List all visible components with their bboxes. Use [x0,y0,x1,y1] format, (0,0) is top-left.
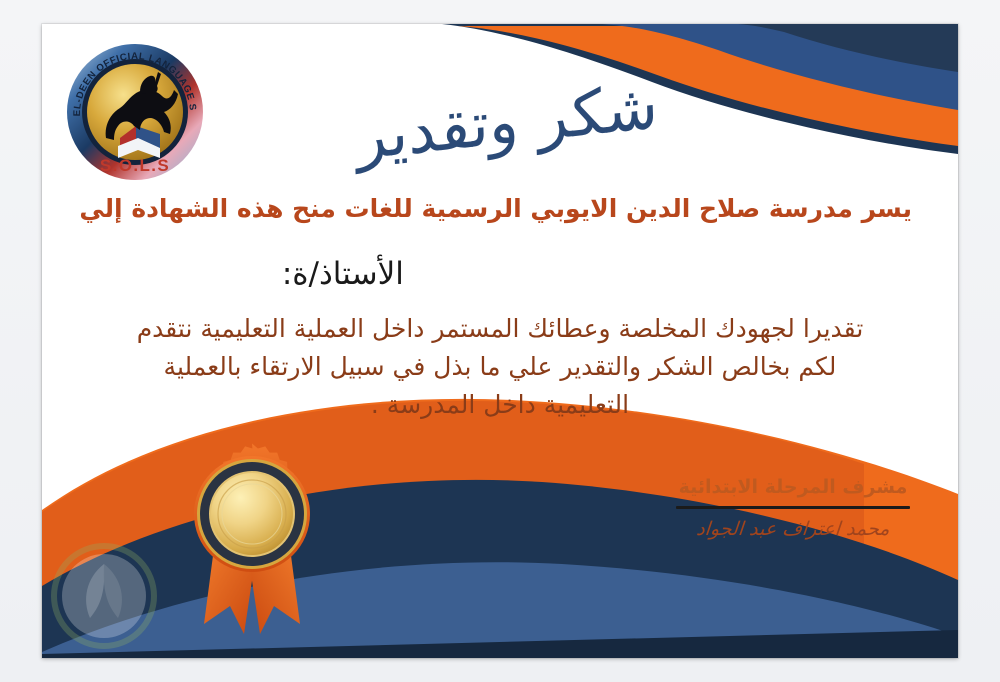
body-line-3: التعليمية داخل المدرسة . [105,386,895,424]
body-paragraph: تقديرا لجهودك المخلصة وعطائك المستمر داخ… [105,310,895,424]
signature-name: محمد اعتراف عبد الجواد [667,518,919,540]
headline-text: يسر مدرسة صلاح الدين الايوبي الرسمية للغ… [88,192,912,226]
medal-gold-center [211,473,293,555]
school-logo-seal: SALAH EL-DEEN OFFICIAL LANGUAGE SCHOOLS … [60,34,210,184]
signature-divider [676,506,910,509]
site-watermark [44,536,164,656]
wave-navy-inner [738,24,958,72]
signature-block: مشرف المرحلة الابتدائية محمد اعتراف عبد … [668,476,918,540]
medal-rosette [194,443,310,572]
recipient-row: الأستاذ/ة: [88,256,912,292]
award-medal [152,428,352,648]
logo-acronym: S.O.L.S [100,156,170,175]
document-viewer: SALAH EL-DEEN OFFICIAL LANGUAGE SCHOOLS … [0,0,1000,682]
title-text: شكر وتقدير [355,75,658,169]
recipient-label: الأستاذ/ة: [282,256,404,292]
body-line-1: تقديرا لجهودك المخلصة وعطائك المستمر داخ… [105,310,895,348]
body-line-2: لكم بخالص الشكر والتقدير علي ما بذل في س… [105,348,895,386]
certificate-title-calligraphy: شكر وتقدير [342,52,672,192]
certificate-content: يسر مدرسة صلاح الدين الايوبي الرسمية للغ… [42,192,958,424]
certificate-sheet: SALAH EL-DEEN OFFICIAL LANGUAGE SCHOOLS … [42,24,958,658]
signature-role: مشرف المرحلة الابتدائية [668,476,918,499]
